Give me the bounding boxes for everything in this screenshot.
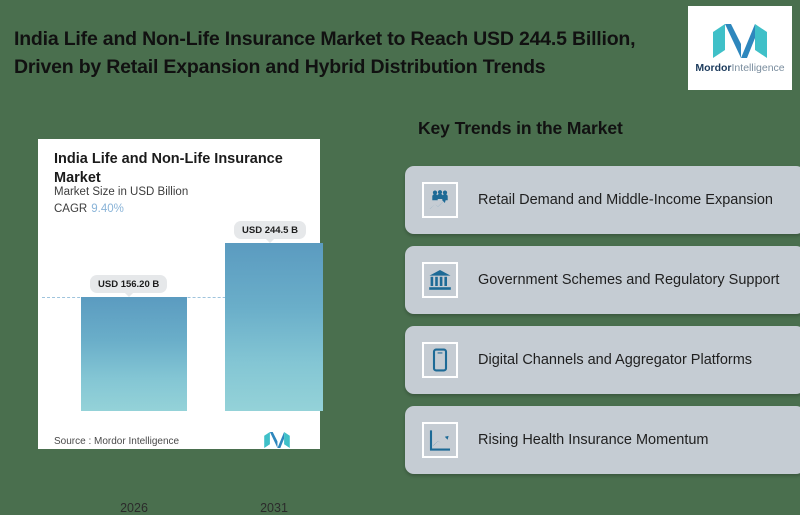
brand-wordmark: MordorIntelligence [695,63,784,74]
trend-card-label: Retail Demand and Middle-Income Expansio… [478,191,773,210]
cagr-row: CAGR9.40% [54,203,124,215]
trend-card-label: Government Schemes and Regulatory Suppor… [478,271,779,290]
x-axis-label-2026: 2026 [81,501,187,515]
bar-2026 [81,297,187,411]
x-axis-label-2031: 2031 [225,501,323,515]
brand-word-intelligence: Intelligence [732,62,785,74]
trend-card-government-schemes[interactable]: Government Schemes and Regulatory Suppor… [405,246,800,314]
line-chart-up-icon [422,422,458,458]
trends-heading: Key Trends in the Market [418,118,623,139]
value-badge-2026: USD 156.20 B [90,275,167,293]
cagr-label: CAGR [54,203,87,215]
chart-title: India Life and Non-Life Insurance Market [54,150,304,187]
bank-building-icon [422,262,458,298]
cagr-value: 9.40% [91,203,124,215]
brand-logo: MordorIntelligence [688,6,792,90]
trend-card-label: Rising Health Insurance Momentum [478,431,709,450]
trend-card-retail-demand[interactable]: Retail Demand and Middle-Income Expansio… [405,166,800,234]
trend-card-label: Digital Channels and Aggregator Platform… [478,351,752,370]
market-size-chart-card: India Life and Non-Life Insurance Market… [38,139,320,449]
chart-subtitle: Market Size in USD Billion [54,186,188,198]
bar-2031 [225,243,323,411]
trend-card-health-insurance[interactable]: Rising Health Insurance Momentum [405,406,800,474]
people-growth-chart-icon [422,182,458,218]
source-text: Source : Mordor Intelligence [54,436,179,447]
page-title: India Life and Non-Life Insurance Market… [14,26,654,81]
mordor-m-logo-icon [711,22,769,60]
value-badge-2031: USD 244.5 B [234,221,306,239]
smartphone-icon [422,342,458,378]
trend-card-digital-channels[interactable]: Digital Channels and Aggregator Platform… [405,326,800,394]
mordor-m-mark-icon [263,431,291,449]
key-trends-list: Retail Demand and Middle-Income Expansio… [405,166,800,486]
brand-word-mordor: Mordor [695,62,731,74]
bar-chart-plot: USD 156.20 B USD 244.5 B 2026 2031 [38,225,320,411]
